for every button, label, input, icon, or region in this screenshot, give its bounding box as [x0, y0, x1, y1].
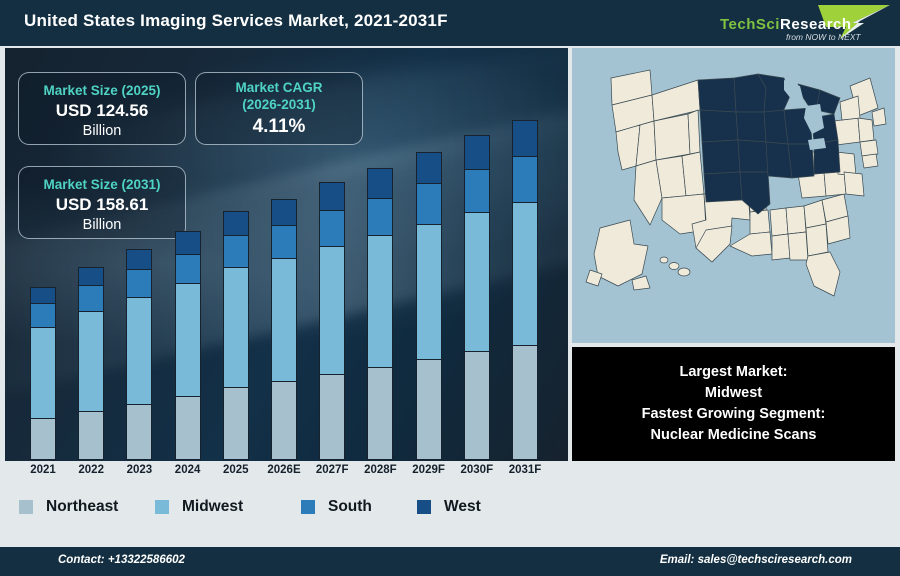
- bar-segment-south-2023: [126, 269, 152, 297]
- x-axis-label-2028F: 2028F: [354, 464, 406, 476]
- legend-item-west[interactable]: West: [417, 498, 481, 516]
- techsci-research-logo: TechSci Research from NOW to NEXT: [714, 3, 892, 45]
- bar-segment-midwest-2030F: [464, 212, 490, 351]
- bar-segment-northeast-2026E: [271, 381, 297, 460]
- stacked-bar-chart: [5, 48, 568, 461]
- x-axis-label-2022: 2022: [65, 464, 117, 476]
- bar-segment-south-2029F: [416, 183, 442, 223]
- bar-segment-west-2029F: [416, 152, 442, 184]
- bar-segment-northeast-2027F: [319, 374, 345, 460]
- bar-2022: [78, 267, 104, 460]
- legend-swatch-south: [301, 500, 315, 514]
- bar-segment-west-2023: [126, 249, 152, 269]
- svg-text:TechSci: TechSci: [720, 16, 780, 33]
- bar-segment-west-2028F: [367, 168, 393, 198]
- bar-2025: [223, 211, 249, 460]
- info-line-2: Midwest: [705, 383, 762, 404]
- legend-item-midwest[interactable]: Midwest: [155, 498, 243, 516]
- bar-segment-midwest-2022: [78, 311, 104, 411]
- bar-segment-south-2028F: [367, 198, 393, 235]
- bar-segment-midwest-2023: [126, 297, 152, 405]
- x-axis-label-2029F: 2029F: [403, 464, 455, 476]
- bar-segment-northeast-2029F: [416, 359, 442, 460]
- x-axis-label-2025: 2025: [210, 464, 262, 476]
- bar-segment-west-2021: [30, 287, 56, 303]
- header-bar: United States Imaging Services Market, 2…: [0, 0, 900, 46]
- key-findings-box: Largest Market:MidwestFastest Growing Se…: [572, 347, 895, 461]
- footer-bar: Contact: +13322586602 Email: sales@techs…: [0, 547, 900, 576]
- legend-item-northeast[interactable]: Northeast: [19, 498, 118, 516]
- bar-segment-midwest-2028F: [367, 235, 393, 367]
- bar-segment-west-2024: [175, 231, 201, 253]
- legend-swatch-west: [417, 500, 431, 514]
- bar-2023: [126, 249, 152, 460]
- x-axis-label-2027F: 2027F: [306, 464, 358, 476]
- bar-segment-midwest-2029F: [416, 224, 442, 359]
- bar-2026E: [271, 199, 297, 460]
- bar-segment-northeast-2025: [223, 387, 249, 460]
- bar-segment-northeast-2021: [30, 418, 56, 460]
- bar-segment-midwest-2031F: [512, 202, 538, 345]
- info-line-3: Fastest Growing Segment:: [642, 404, 826, 425]
- x-axis-label-2030F: 2030F: [451, 464, 503, 476]
- legend-label-midwest: Midwest: [182, 498, 243, 516]
- x-axis-label-2031F: 2031F: [499, 464, 551, 476]
- bar-segment-south-2024: [175, 254, 201, 284]
- bar-segment-northeast-2024: [175, 396, 201, 460]
- bar-segment-midwest-2026E: [271, 258, 297, 381]
- svg-text:from NOW to NEXT: from NOW to NEXT: [786, 32, 861, 42]
- x-axis-label-2023: 2023: [113, 464, 165, 476]
- legend-label-northeast: Northeast: [46, 498, 118, 516]
- bar-segment-northeast-2028F: [367, 367, 393, 460]
- bar-2028F: [367, 168, 393, 460]
- bar-segment-midwest-2025: [223, 267, 249, 387]
- footer-contact: Contact: +13322586602: [58, 554, 185, 566]
- x-axis-label-2026E: 2026E: [258, 464, 310, 476]
- bar-segment-south-2026E: [271, 225, 297, 259]
- bar-segment-west-2025: [223, 211, 249, 235]
- bar-segment-south-2031F: [512, 156, 538, 202]
- bar-segment-midwest-2021: [30, 327, 56, 418]
- bar-segment-south-2021: [30, 303, 56, 326]
- bar-segment-west-2026E: [271, 199, 297, 225]
- bar-segment-west-2030F: [464, 135, 490, 169]
- legend-label-west: West: [444, 498, 481, 516]
- bar-2031F: [512, 120, 538, 460]
- x-axis-label-2024: 2024: [162, 464, 214, 476]
- bar-2029F: [416, 152, 442, 460]
- bar-segment-south-2025: [223, 235, 249, 267]
- legend-item-south[interactable]: South: [301, 498, 372, 516]
- bar-segment-west-2022: [78, 267, 104, 285]
- bar-segment-northeast-2023: [126, 404, 152, 460]
- bar-segment-midwest-2027F: [319, 246, 345, 374]
- bar-segment-west-2027F: [319, 182, 345, 210]
- x-axis: 202120222023202420252026E2027F2028F2029F…: [5, 461, 568, 483]
- bar-segment-northeast-2022: [78, 411, 104, 460]
- bar-2021: [30, 287, 56, 460]
- bar-2024: [175, 231, 201, 460]
- bar-segment-west-2031F: [512, 120, 538, 156]
- us-map: [572, 48, 895, 343]
- page-title: United States Imaging Services Market, 2…: [24, 11, 448, 31]
- legend-label-south: South: [328, 498, 372, 516]
- bar-segment-south-2022: [78, 285, 104, 311]
- infographic-root: United States Imaging Services Market, 2…: [0, 0, 900, 576]
- bar-segment-northeast-2030F: [464, 351, 490, 460]
- legend-swatch-midwest: [155, 500, 169, 514]
- bar-segment-south-2027F: [319, 210, 345, 246]
- bar-segment-northeast-2031F: [512, 345, 538, 460]
- chart-legend: NortheastMidwestSouthWest: [5, 490, 568, 534]
- legend-swatch-northeast: [19, 500, 33, 514]
- svg-text:Research: Research: [780, 16, 852, 33]
- bar-2030F: [464, 135, 490, 460]
- info-line-4: Nuclear Medicine Scans: [650, 425, 816, 446]
- bar-segment-midwest-2024: [175, 283, 201, 395]
- info-line-1: Largest Market:: [680, 362, 788, 383]
- chart-panel: Market Size (2025) USD 124.56 Billion Ma…: [5, 48, 568, 461]
- footer-email: Email: sales@techsciresearch.com: [660, 554, 852, 566]
- bar-segment-south-2030F: [464, 169, 490, 212]
- x-axis-label-2021: 2021: [17, 464, 69, 476]
- bar-2027F: [319, 182, 345, 460]
